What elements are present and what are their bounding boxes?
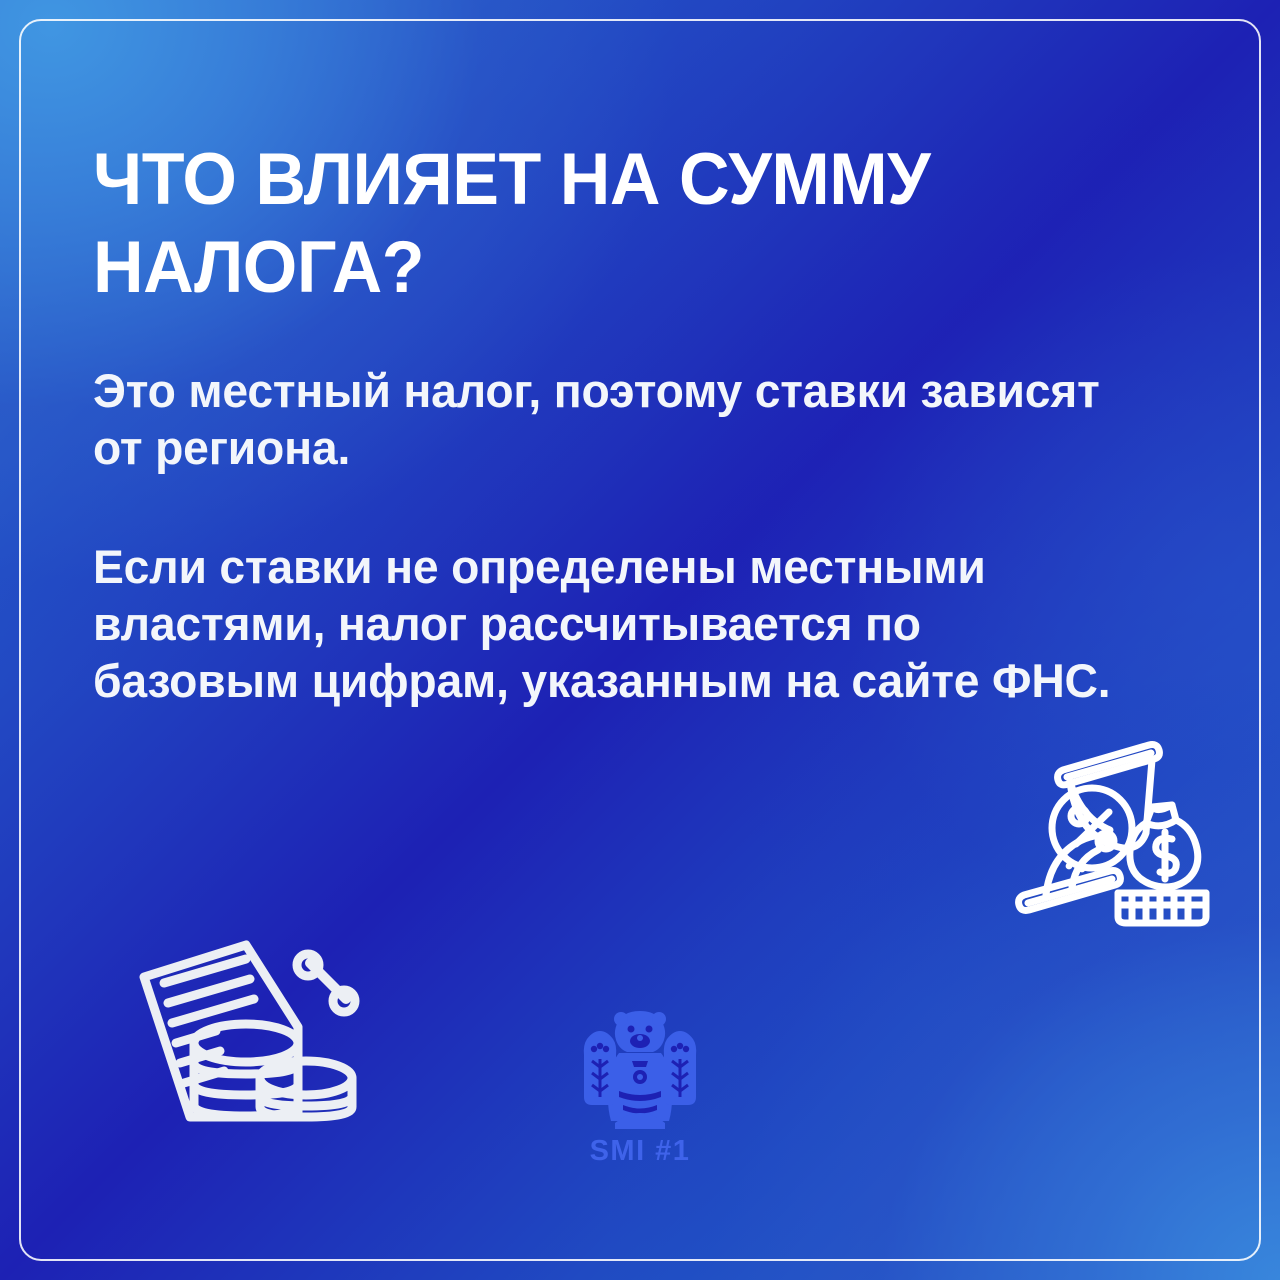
hourglass-percent-moneybag-icon [1006,735,1216,930]
watermark-label: SMI #1 [560,1137,720,1166]
paragraph-base-rates: Если ставки не определены местными власт… [93,538,1137,709]
document-coins-percent-icon [128,935,368,1145]
poster-canvas: ЧТО ВЛИЯЕТ НА СУММУ НАЛОГА? Это местный … [0,0,1280,1280]
watermark: SMI #1 [560,1005,720,1180]
poster-content: ЧТО ВЛИЯЕТ НА СУММУ НАЛОГА? Это местный … [93,136,1190,709]
body-text-block: Это местный налог, поэтому ставки завися… [93,362,1153,709]
paragraph-local-tax: Это местный налог, поэтому ставки завися… [93,362,1137,476]
page-title: ЧТО ВЛИЯЕТ НА СУММУ НАЛОГА? [93,136,1053,312]
folk-bear-emblem-icon [575,1005,705,1133]
